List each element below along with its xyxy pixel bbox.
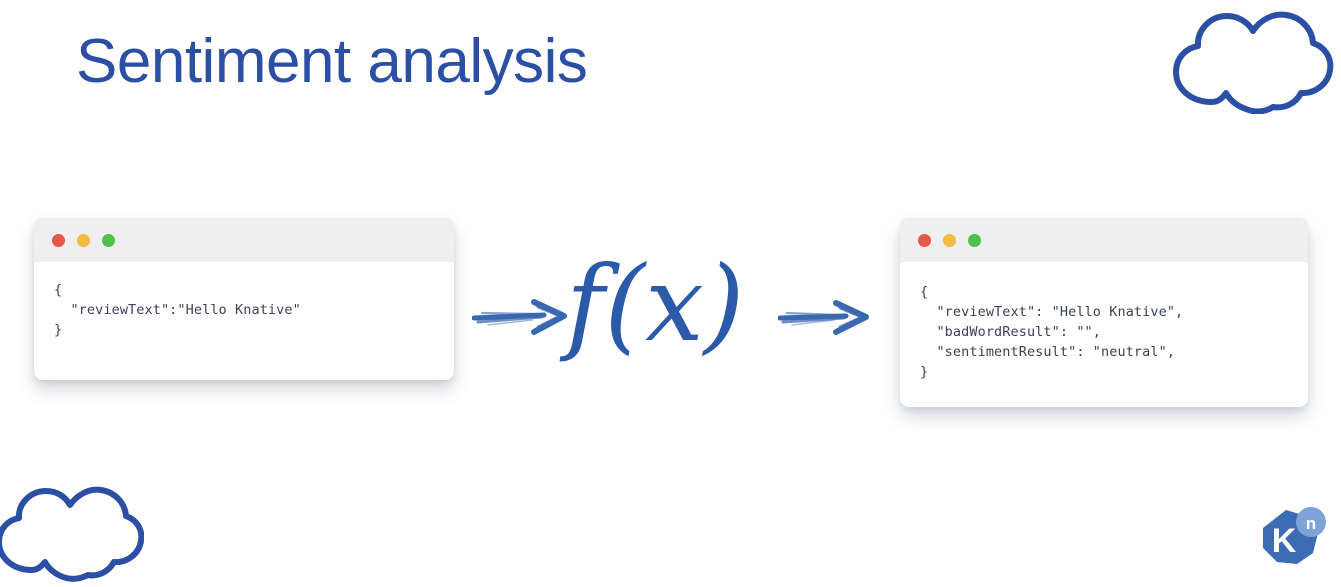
function-fx-symbol: f(x) <box>566 252 744 356</box>
response-json-code: { "reviewText": "Hello Knative", "badWor… <box>920 282 1308 382</box>
page-title: Sentiment analysis <box>76 28 587 96</box>
maximize-dot-icon[interactable] <box>102 234 115 247</box>
response-window-body: { "reviewText": "Hello Knative", "badWor… <box>900 262 1308 407</box>
response-window-titlebar <box>900 218 1308 262</box>
minimize-dot-icon[interactable] <box>943 234 956 247</box>
close-dot-icon[interactable] <box>52 234 65 247</box>
request-json-code: { "reviewText":"Hello Knative" } <box>54 280 454 340</box>
knative-n-letter: n <box>1306 514 1316 533</box>
cloud-icon-bottom-left <box>0 482 144 587</box>
maximize-dot-icon[interactable] <box>968 234 981 247</box>
request-code-window: { "reviewText":"Hello Knative" } <box>34 218 454 380</box>
knative-k-letter: K <box>1272 522 1297 560</box>
response-code-window: { "reviewText": "Hello Knative", "badWor… <box>900 218 1308 407</box>
arrow-input-to-function-icon <box>472 296 568 343</box>
cloud-icon-top-right <box>1168 6 1334 119</box>
request-window-body: { "reviewText":"Hello Knative" } <box>34 262 454 380</box>
arrow-function-to-output-icon <box>778 298 870 343</box>
close-dot-icon[interactable] <box>918 234 931 247</box>
minimize-dot-icon[interactable] <box>77 234 90 247</box>
knative-logo: K n <box>1256 506 1328 581</box>
request-window-titlebar <box>34 218 454 262</box>
